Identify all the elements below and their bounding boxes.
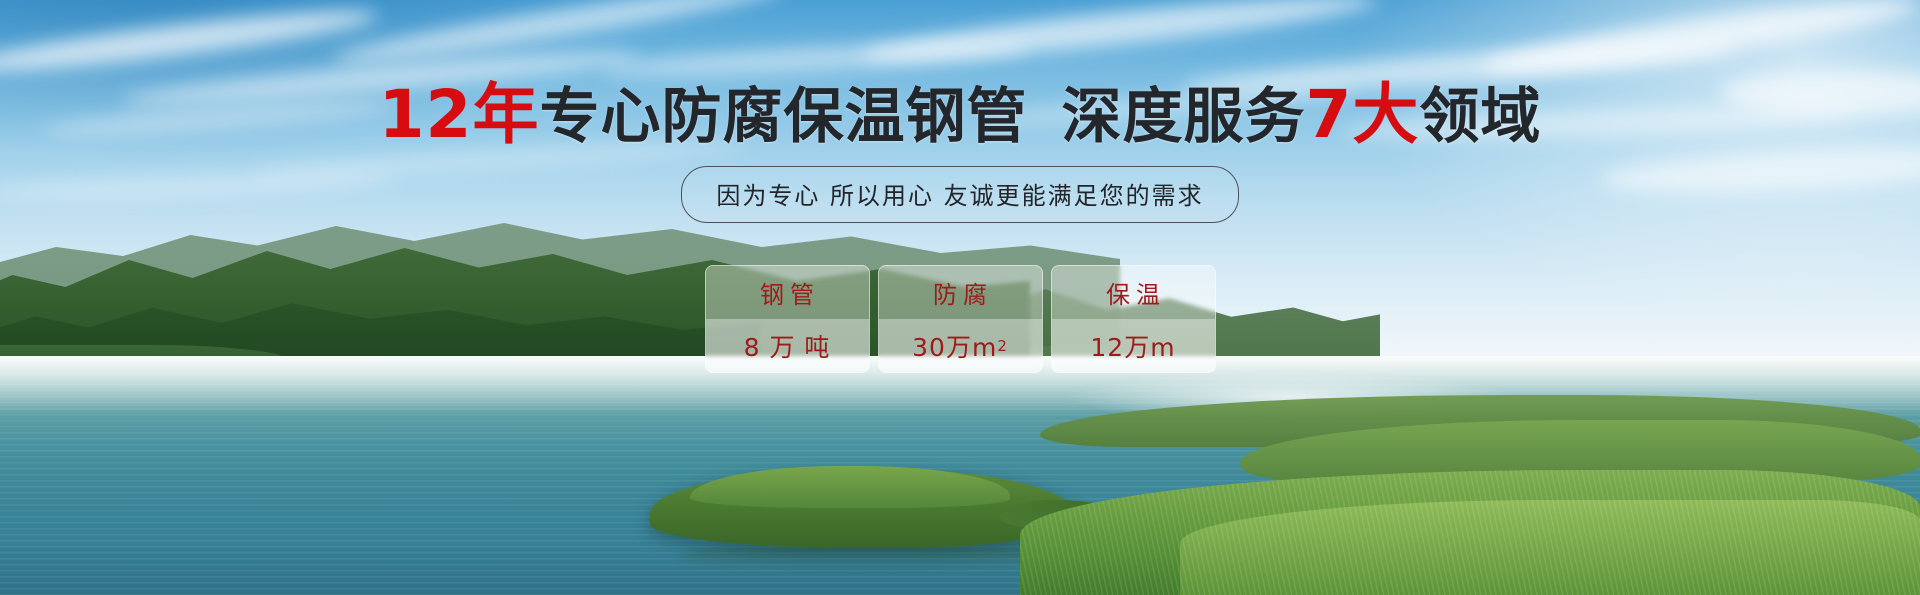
stat-card-anticorrosion[interactable]: 防腐 30万m2 xyxy=(878,265,1043,373)
stat-card-steel-pipe[interactable]: 钢管 8 万 吨 xyxy=(705,265,870,373)
stat-card-value: 30万m2 xyxy=(879,319,1042,372)
stat-card-insulation[interactable]: 保温 12万m xyxy=(1051,265,1216,373)
headline-service-text: 深度服务 xyxy=(1061,82,1305,152)
stat-value-superscript: 2 xyxy=(997,337,1008,355)
headline-years-number: 12年 xyxy=(379,76,540,153)
stat-card-value: 12万m xyxy=(1052,319,1215,372)
stat-card-title: 防腐 xyxy=(879,266,1042,319)
headline-fields-text: 领域 xyxy=(1419,82,1541,152)
stat-value-text: 8 万 吨 xyxy=(744,328,831,364)
subtitle-container: 因为专心 所以用心 友诚更能满足您的需求 xyxy=(0,166,1920,223)
stat-card-title: 保温 xyxy=(1052,266,1215,319)
stat-value-text: 12万m xyxy=(1090,328,1175,364)
headline-fields-number: 7大 xyxy=(1305,76,1419,153)
headline-main-text: 专心防腐保温钢管 xyxy=(539,82,1027,152)
hero-banner: 12年专心防腐保温钢管深度服务7大领域 因为专心 所以用心 友诚更能满足您的需求… xyxy=(0,0,1920,595)
stat-value-text: 30万m xyxy=(912,328,997,364)
banner-headline: 12年专心防腐保温钢管深度服务7大领域 xyxy=(0,82,1920,148)
stat-card-title: 钢管 xyxy=(706,266,869,319)
subtitle-pill: 因为专心 所以用心 友诚更能满足您的需求 xyxy=(681,166,1238,223)
stat-card-value: 8 万 吨 xyxy=(706,319,869,372)
stat-cards-row: 钢管 8 万 吨 防腐 30万m2 保温 12万m xyxy=(0,265,1920,373)
